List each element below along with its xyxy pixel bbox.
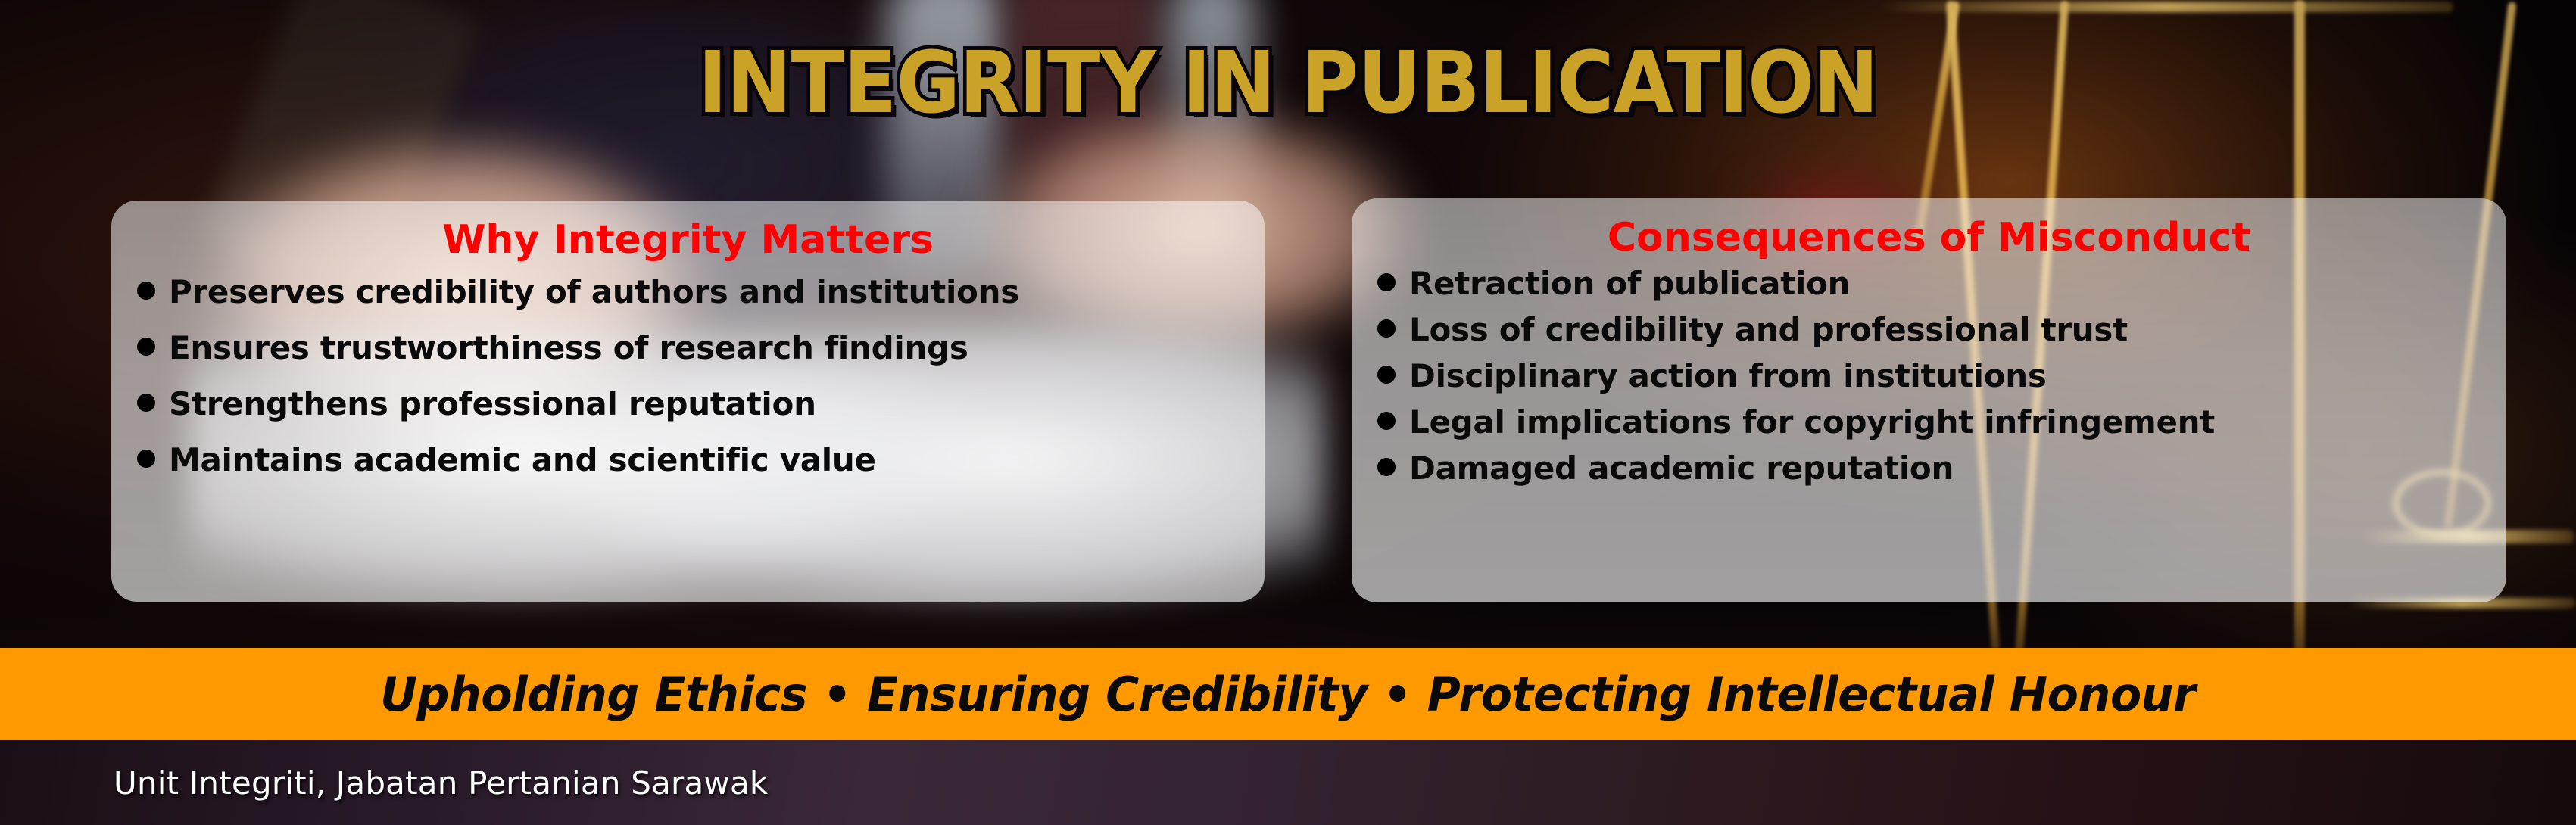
panel-why-integrity-matters: Why Integrity Matters Preserves credibil… bbox=[111, 201, 1265, 602]
list-item: Retraction of publication bbox=[1377, 265, 2481, 302]
poster-root: INTEGRITY IN PUBLICATION Why Integrity M… bbox=[0, 0, 2576, 825]
list-item-label: Retraction of publication bbox=[1409, 265, 1850, 302]
panel-consequences-of-misconduct: Consequences of Misconduct Retraction of… bbox=[1352, 198, 2506, 602]
list-item: Loss of credibility and professional tru… bbox=[1377, 311, 2481, 348]
list-item: Preserves credibility of authors and ins… bbox=[137, 273, 1239, 310]
bullet-dot-icon bbox=[1377, 319, 1396, 338]
list-item: Strengthens professional reputation bbox=[137, 385, 1239, 422]
list-item-label: Ensures trustworthiness of research find… bbox=[169, 329, 968, 366]
footer-credit-text: Unit Integriti, Jabatan Pertanian Sarawa… bbox=[114, 764, 768, 802]
list-item: Ensures trustworthiness of research find… bbox=[137, 329, 1239, 366]
bullet-dot-icon bbox=[137, 282, 155, 300]
bullet-dot-icon bbox=[137, 394, 155, 412]
panel-left-heading: Why Integrity Matters bbox=[137, 217, 1239, 263]
list-item: Maintains academic and scientific value bbox=[137, 441, 1239, 478]
list-item-label: Legal implications for copyright infring… bbox=[1409, 403, 2215, 441]
tagline-bar: Upholding Ethics • Ensuring Credibility … bbox=[0, 648, 2576, 740]
list-item: Damaged academic reputation bbox=[1377, 450, 2481, 487]
footer-bar: Unit Integriti, Jabatan Pertanian Sarawa… bbox=[0, 740, 2576, 825]
list-item: Disciplinary action from institutions bbox=[1377, 357, 2481, 394]
bullet-dot-icon bbox=[1377, 366, 1396, 384]
bullet-dot-icon bbox=[1377, 458, 1396, 476]
list-item-label: Damaged academic reputation bbox=[1409, 450, 1954, 487]
bullet-dot-icon bbox=[137, 450, 155, 468]
tagline-text: Upholding Ethics • Ensuring Credibility … bbox=[380, 667, 2195, 722]
panel-right-bullet-list: Retraction of publication Loss of credib… bbox=[1377, 265, 2481, 487]
list-item: Legal implications for copyright infring… bbox=[1377, 403, 2481, 441]
list-item-label: Maintains academic and scientific value bbox=[169, 441, 876, 478]
panel-right-heading: Consequences of Misconduct bbox=[1377, 215, 2481, 260]
page-title: INTEGRITY IN PUBLICATION bbox=[103, 39, 2473, 129]
list-item-label: Preserves credibility of authors and ins… bbox=[169, 273, 1019, 310]
bullet-dot-icon bbox=[1377, 273, 1396, 291]
list-item-label: Loss of credibility and professional tru… bbox=[1409, 311, 2128, 348]
bullet-dot-icon bbox=[137, 338, 155, 356]
bullet-dot-icon bbox=[1377, 412, 1396, 430]
list-item-label: Disciplinary action from institutions bbox=[1409, 357, 2047, 394]
list-item-label: Strengthens professional reputation bbox=[169, 385, 816, 422]
panel-left-bullet-list: Preserves credibility of authors and ins… bbox=[137, 273, 1239, 478]
